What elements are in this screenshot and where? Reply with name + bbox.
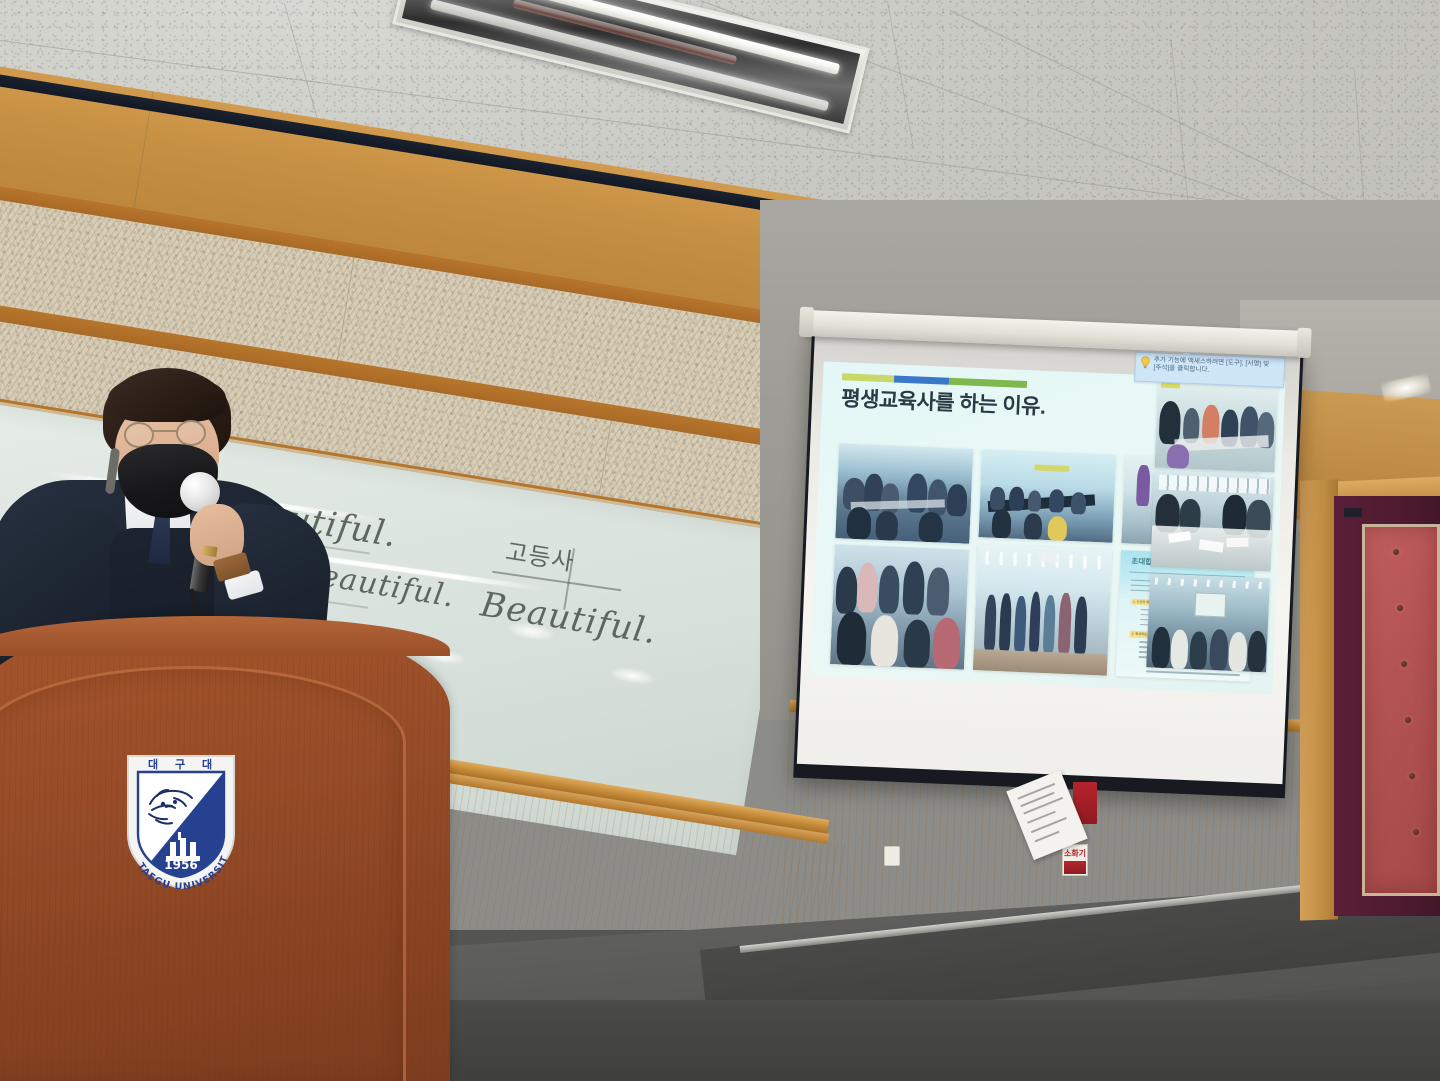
standing-person [1058,593,1073,654]
crowd-blob [876,511,899,540]
door-label-plate [1344,508,1362,517]
standing-person [984,595,997,651]
standing-person [1043,595,1056,653]
standing-person [1014,596,1027,652]
door-tuft-button [1397,605,1403,611]
screen-surface: 평생교육사를 하는 이유. [797,333,1301,784]
podium: 대 구 대 1956 TAEGU UNIVERSITY 1956 TAEGU U… [0,616,450,1081]
svg-text:1956: 1956 [164,858,197,872]
fire-extinguisher-label: 소화기 [1063,845,1087,861]
wall-outlet-stage[interactable] [884,846,900,866]
ceiling-lights-row [1155,577,1266,589]
slide-photo-paper-craft [1151,473,1275,572]
standing-person [1136,465,1150,506]
wall-banner [1035,464,1070,472]
slide-photo-seminar-room [978,450,1116,544]
standing-person [1028,591,1041,652]
slide-photo-standing-group [973,544,1112,675]
svg-text:대: 대 [148,757,158,771]
svg-text:대: 대 [202,757,212,771]
whiteboard-light-reflection [611,666,655,686]
slide-photo-craft-children [1155,380,1279,473]
slide-photo-workshop [830,544,969,669]
notice-text-line [1027,811,1055,824]
crowd-blob [902,561,926,614]
photo-content [1151,473,1275,572]
crowd-blob [990,487,1006,510]
projector-screen-inner [1194,592,1226,618]
door-tuft-button [1413,829,1419,835]
whiteboard-word-right: Beautiful. [478,584,660,652]
lightbulb-icon [1139,356,1151,374]
crowd-blob [1049,489,1065,512]
extinguisher-pictogram [1064,861,1086,874]
lecture-hall-photo: Beautiful. More beautiful. Most 고등사 Beau… [0,0,1440,1081]
crowd-blob [846,506,871,539]
crowd-blob [919,511,944,542]
crowd-blob [1190,632,1208,670]
photo-content [973,544,1112,675]
crowd-blob [946,484,967,517]
accent-segment-1 [842,373,894,382]
glasses-bridge [153,430,177,432]
photo-content [1146,573,1270,672]
crowd-blob [1167,444,1190,470]
crowd-blob [1070,492,1086,515]
crowd-blob [1247,630,1267,672]
door-tuft-button [1405,717,1411,723]
housing-bracket-left [799,307,814,338]
notice-text-line [1035,831,1060,842]
photo-content [1155,380,1279,473]
door-tuft-button [1401,661,1407,667]
projection-screen[interactable]: 평생교육사를 하는 이유. [793,330,1303,798]
crowd-blob [1228,631,1248,671]
crowd-blob [1024,513,1043,540]
housing-bracket-right [1296,328,1311,359]
crowd-blob [836,611,868,665]
fire-extinguisher-sign: 소화기 [1062,844,1088,876]
entry-door[interactable] [1300,480,1440,920]
crowd-blob [857,562,879,613]
hair-fringe [108,374,226,422]
floor-surface [973,650,1108,676]
accent-segment-3 [949,377,1027,387]
standing-person [1074,596,1088,654]
crowd-blob [1158,401,1181,444]
photo-content [835,444,973,544]
standing-person [999,593,1012,651]
crowd-blob [926,567,949,616]
crowd-blob [932,618,961,669]
crowd-blob [928,479,948,516]
poster-footer-line [1146,671,1240,676]
glasses-lens-right [176,420,206,446]
crowd-blob [1009,486,1025,511]
powerpoint-tooltip[interactable]: 추가 기능에 액세스하려면 [도구], [서명] 및 [주석]을 클릭합니다. [1134,352,1286,388]
whiteboard-heading-right: 고등사 [503,532,577,578]
podium-top-edge [0,616,450,656]
crowd-blob [903,619,932,668]
svg-text:구: 구 [175,758,185,771]
slide-photo-large-hall [835,444,973,544]
window-band [1159,475,1270,495]
crowd-blob [1209,629,1229,671]
crowd-blob [1048,516,1068,541]
ceiling-vent [1039,552,1058,563]
crowd-blob [835,566,858,615]
door-jamb [1300,479,1338,920]
slide-title: 평생교육사를 하는 이유. [841,382,1046,421]
door-tuft-button [1409,773,1415,779]
microphone-ring [201,545,217,557]
crowd-blob [870,615,899,666]
slide-photo-classroom-presentation [1146,573,1270,672]
photo-content [978,450,1116,544]
crowd-blob [1170,629,1188,669]
notice-text-line [1017,783,1055,799]
crowd-blob [878,565,900,614]
door-tuft-button [1393,549,1399,555]
tooltip-text: 추가 기능에 액세스하려면 [도구], [서명] 및 [주석]을 클릭합니다. [1153,357,1280,379]
crowd-blob [1151,626,1171,668]
crowd-blob [991,508,1011,539]
notice-text-line [1023,797,1063,814]
presentation-slide: 평생교육사를 하는 이유. [810,361,1285,695]
crowd-blob [1028,490,1042,512]
door-padded-panel [1362,524,1440,896]
accent-segment-2 [894,375,950,384]
paper-sheet [1226,538,1248,548]
university-crest: 대 구 대 1956 TAEGU UNIVERSITY [122,752,240,892]
photo-content [830,544,969,669]
